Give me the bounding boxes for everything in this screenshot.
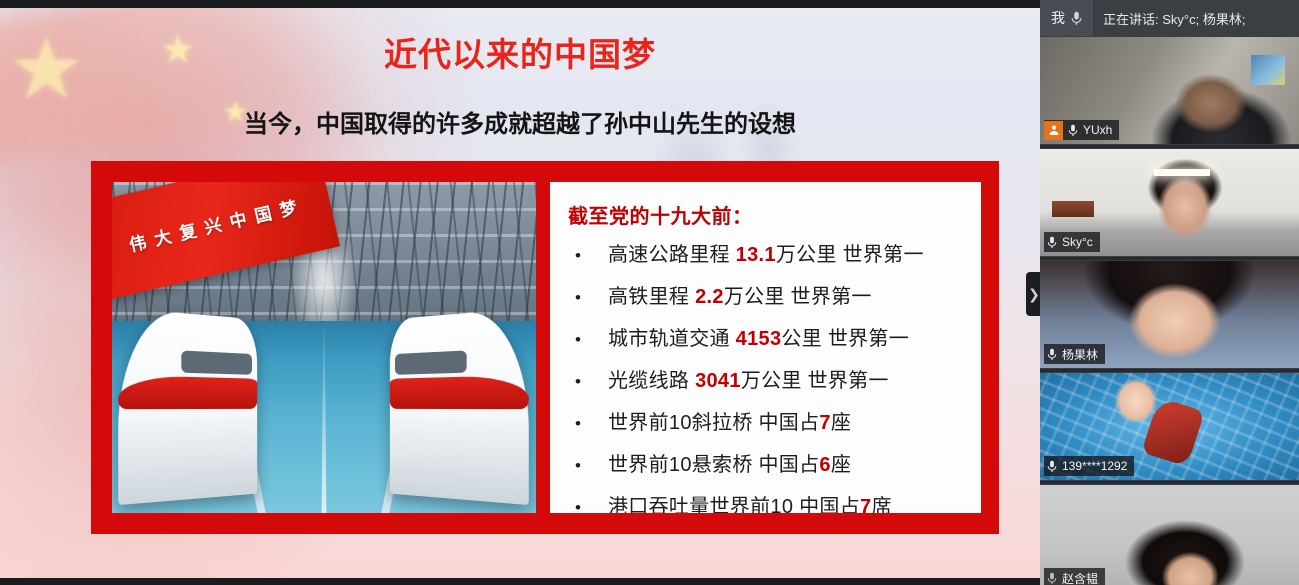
bullet-marker: • [568,363,608,401]
chevron-right-icon: ❯ [1028,286,1040,303]
train-window [181,351,252,376]
list-item: • 高速公路里程 13.1万公里 世界第一 [568,236,971,275]
participant-name-badge: YUxh [1044,120,1119,140]
microphone-icon [1071,11,1082,26]
participant-tile-zhao[interactable]: 赵含韫 [1040,484,1299,585]
list-item: • 世界前10悬索桥 中国占6座 [568,446,971,485]
participant-video-panel: ❯ 我 正在讲话: Sky°c; 杨果林; [1040,0,1299,585]
banner-text: 伟 大 复 兴 中 国 梦 [127,193,302,256]
speaking-status: 正在讲话: Sky°c; 杨果林; [1094,9,1299,28]
panel-top-bar: 我 正在讲话: Sky°c; 杨果林; [1040,0,1299,36]
participant-name: 赵含韫 [1062,570,1098,585]
microphone-icon [1047,348,1057,361]
participant-name-badge: 139****1292 [1044,456,1134,476]
meeting-screen-share-window: ★ ★ ★ ★ ★ 近代以来的中国梦 当今，中国取得的许多成就超越了孙中山先生的… [0,0,1299,585]
statistics-list: • 高速公路里程 13.1万公里 世界第一 • 高铁里程 2.2万公里 世界第一… [568,236,971,513]
person-badge-icon [1044,121,1063,140]
bullet-marker: • [568,237,608,275]
list-item: • 高铁里程 2.2万公里 世界第一 [568,278,971,317]
train-stripe [390,375,529,409]
list-item-text: 城市轨道交通 4153公里 世界第一 [608,320,909,358]
list-item-text: 高铁里程 2.2万公里 世界第一 [608,278,872,316]
list-item: • 世界前10斜拉桥 中国占7座 [568,404,971,443]
statistics-text-panel: 截至党的十九大前： • 高速公路里程 13.1万公里 世界第一 • 高铁里程 2… [550,182,981,513]
participant-tile-yangguolin[interactable]: 杨果林 [1040,260,1299,369]
shared-screen-area[interactable]: ★ ★ ★ ★ ★ 近代以来的中国梦 当今，中国取得的许多成就超越了孙中山先生的… [0,0,1040,585]
participant-name-badge: 杨果林 [1044,344,1105,364]
bullet-marker: • [568,321,608,359]
slide-title: 近代以来的中国梦 [0,28,1040,76]
slide-subtitle: 当今，中国取得的许多成就超越了孙中山先生的设想 [0,104,1040,139]
list-heading: 截至党的十九大前： [568,200,971,229]
microphone-icon [1047,236,1057,249]
slide-content-frame: 伟 大 复 兴 中 国 梦 截至党的十九大前： • 高速公路里程 13.1万公里… [91,161,999,534]
participant-name-badge: Sky°c [1044,232,1100,252]
train-left [119,308,258,506]
participant-tile-yuxh[interactable]: YUxh [1040,36,1299,145]
self-mic-control[interactable]: 我 [1040,0,1094,36]
bullet-marker: • [568,405,608,443]
list-item-text: 港口吞吐量世界前10 中国占7席 [608,488,892,513]
list-item-text: 世界前10悬索桥 中国占6座 [608,446,851,484]
microphone-icon [1068,124,1078,137]
microphone-icon [1047,460,1057,473]
list-item-text: 光缆线路 3041万公里 世界第一 [608,362,889,400]
self-label: 我 [1051,8,1065,28]
participant-name: 139****1292 [1062,459,1127,473]
bullet-marker: • [568,279,608,317]
participant-tile-list: YUxh Sky°c [1040,36,1299,585]
bullet-marker: • [568,489,608,513]
list-item: • 港口吞吐量世界前10 中国占7席 [568,488,971,513]
participant-name: YUxh [1083,123,1112,137]
train-stripe [119,375,258,409]
participant-tile-139[interactable]: 139****1292 [1040,372,1299,481]
high-speed-train-factory-photo: 伟 大 复 兴 中 国 梦 [112,182,536,513]
participant-name: Sky°c [1062,235,1093,249]
bullet-marker: • [568,447,608,485]
presentation-slide: ★ ★ ★ ★ ★ 近代以来的中国梦 当今，中国取得的许多成就超越了孙中山先生的… [0,8,1040,578]
microphone-icon [1047,572,1057,585]
participant-tile-skyc[interactable]: Sky°c [1040,148,1299,257]
participant-name: 杨果林 [1062,346,1098,363]
participant-name-badge: 赵含韫 [1044,568,1105,585]
list-item-text: 世界前10斜拉桥 中国占7座 [608,404,851,442]
list-item: • 光缆线路 3041万公里 世界第一 [568,362,971,401]
list-item: • 城市轨道交通 4153公里 世界第一 [568,320,971,359]
list-item-text: 高速公路里程 13.1万公里 世界第一 [608,236,924,274]
train-window [395,351,466,376]
